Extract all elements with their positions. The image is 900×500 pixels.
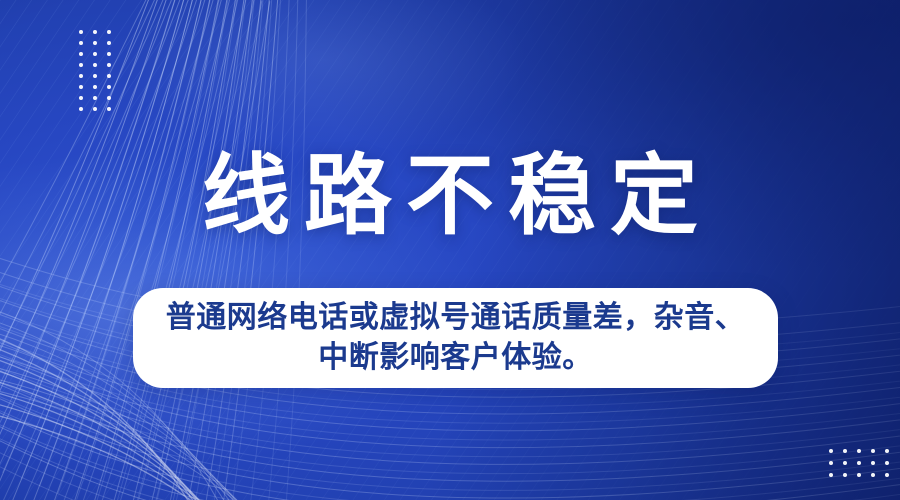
dot [107,74,111,78]
dot [79,74,83,78]
dot [829,461,833,465]
promo-banner: 线路不稳定 普通网络电话或虚拟号通话质量差，杂音、中断影响客户体验。 [0,0,900,500]
dot [79,107,83,111]
dot [107,85,111,89]
dot [885,449,889,453]
dot-grid-top-left [79,30,121,118]
dot [93,63,97,67]
dot [885,473,889,477]
dot [93,30,97,34]
wave-mesh-decoration [0,0,900,500]
subtitle-card: 普通网络电话或虚拟号通话质量差，杂音、中断影响客户体验。 [133,288,778,388]
subtitle-text: 普通网络电话或虚拟号通话质量差，杂音、中断影响客户体验。 [159,298,752,377]
dot [79,96,83,100]
dot [93,107,97,111]
dot [93,74,97,78]
dot [93,52,97,56]
dot [857,449,861,453]
dot [857,473,861,477]
dot [843,449,847,453]
dot [107,30,111,34]
dot [79,52,83,56]
dot [79,41,83,45]
dot [107,96,111,100]
dot [93,85,97,89]
dot [857,461,861,465]
dot [843,461,847,465]
dot [79,63,83,67]
dot [829,449,833,453]
dot [871,473,875,477]
dot [107,107,111,111]
dot [93,96,97,100]
dot [79,85,83,89]
dot-grid-bottom-right [829,449,899,485]
dot [829,473,833,477]
dot [871,461,875,465]
dot [107,63,111,67]
dot [93,41,97,45]
dot [79,30,83,34]
dot [885,461,889,465]
dot [843,473,847,477]
banner-headline: 线路不稳定 [0,152,900,240]
dot [107,41,111,45]
dot [107,52,111,56]
dot [871,449,875,453]
